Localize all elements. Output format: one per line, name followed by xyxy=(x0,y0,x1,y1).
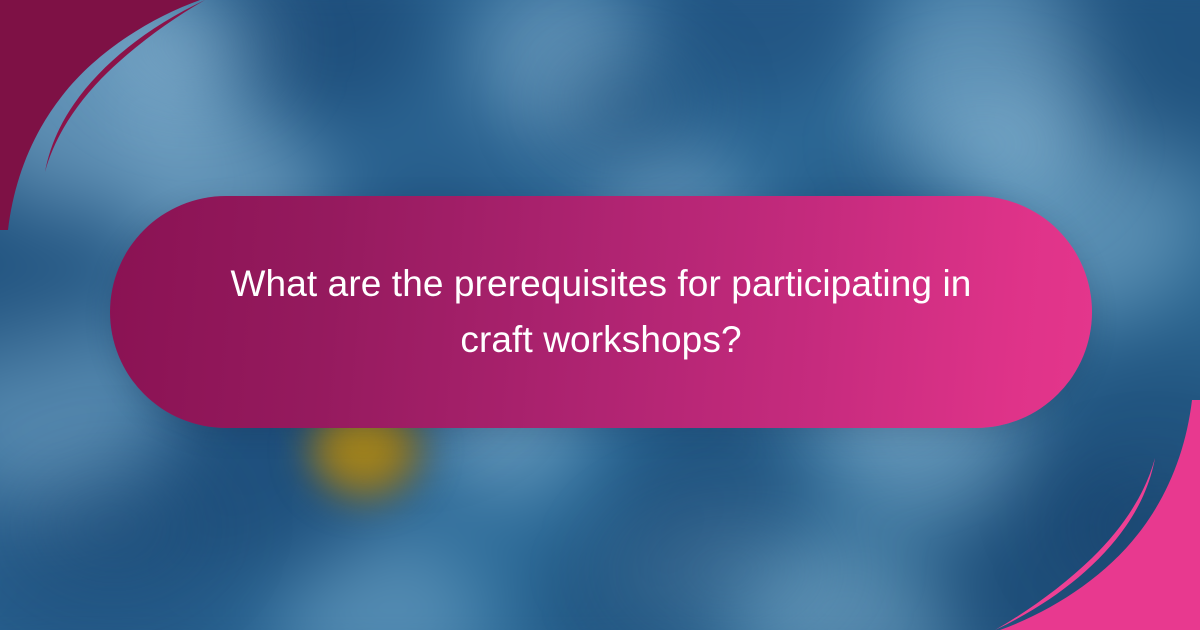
question-text: What are the prerequisites for participa… xyxy=(166,256,1036,368)
question-card: What are the prerequisites for participa… xyxy=(110,196,1092,428)
question-card-canvas: What are the prerequisites for participa… xyxy=(0,0,1200,630)
